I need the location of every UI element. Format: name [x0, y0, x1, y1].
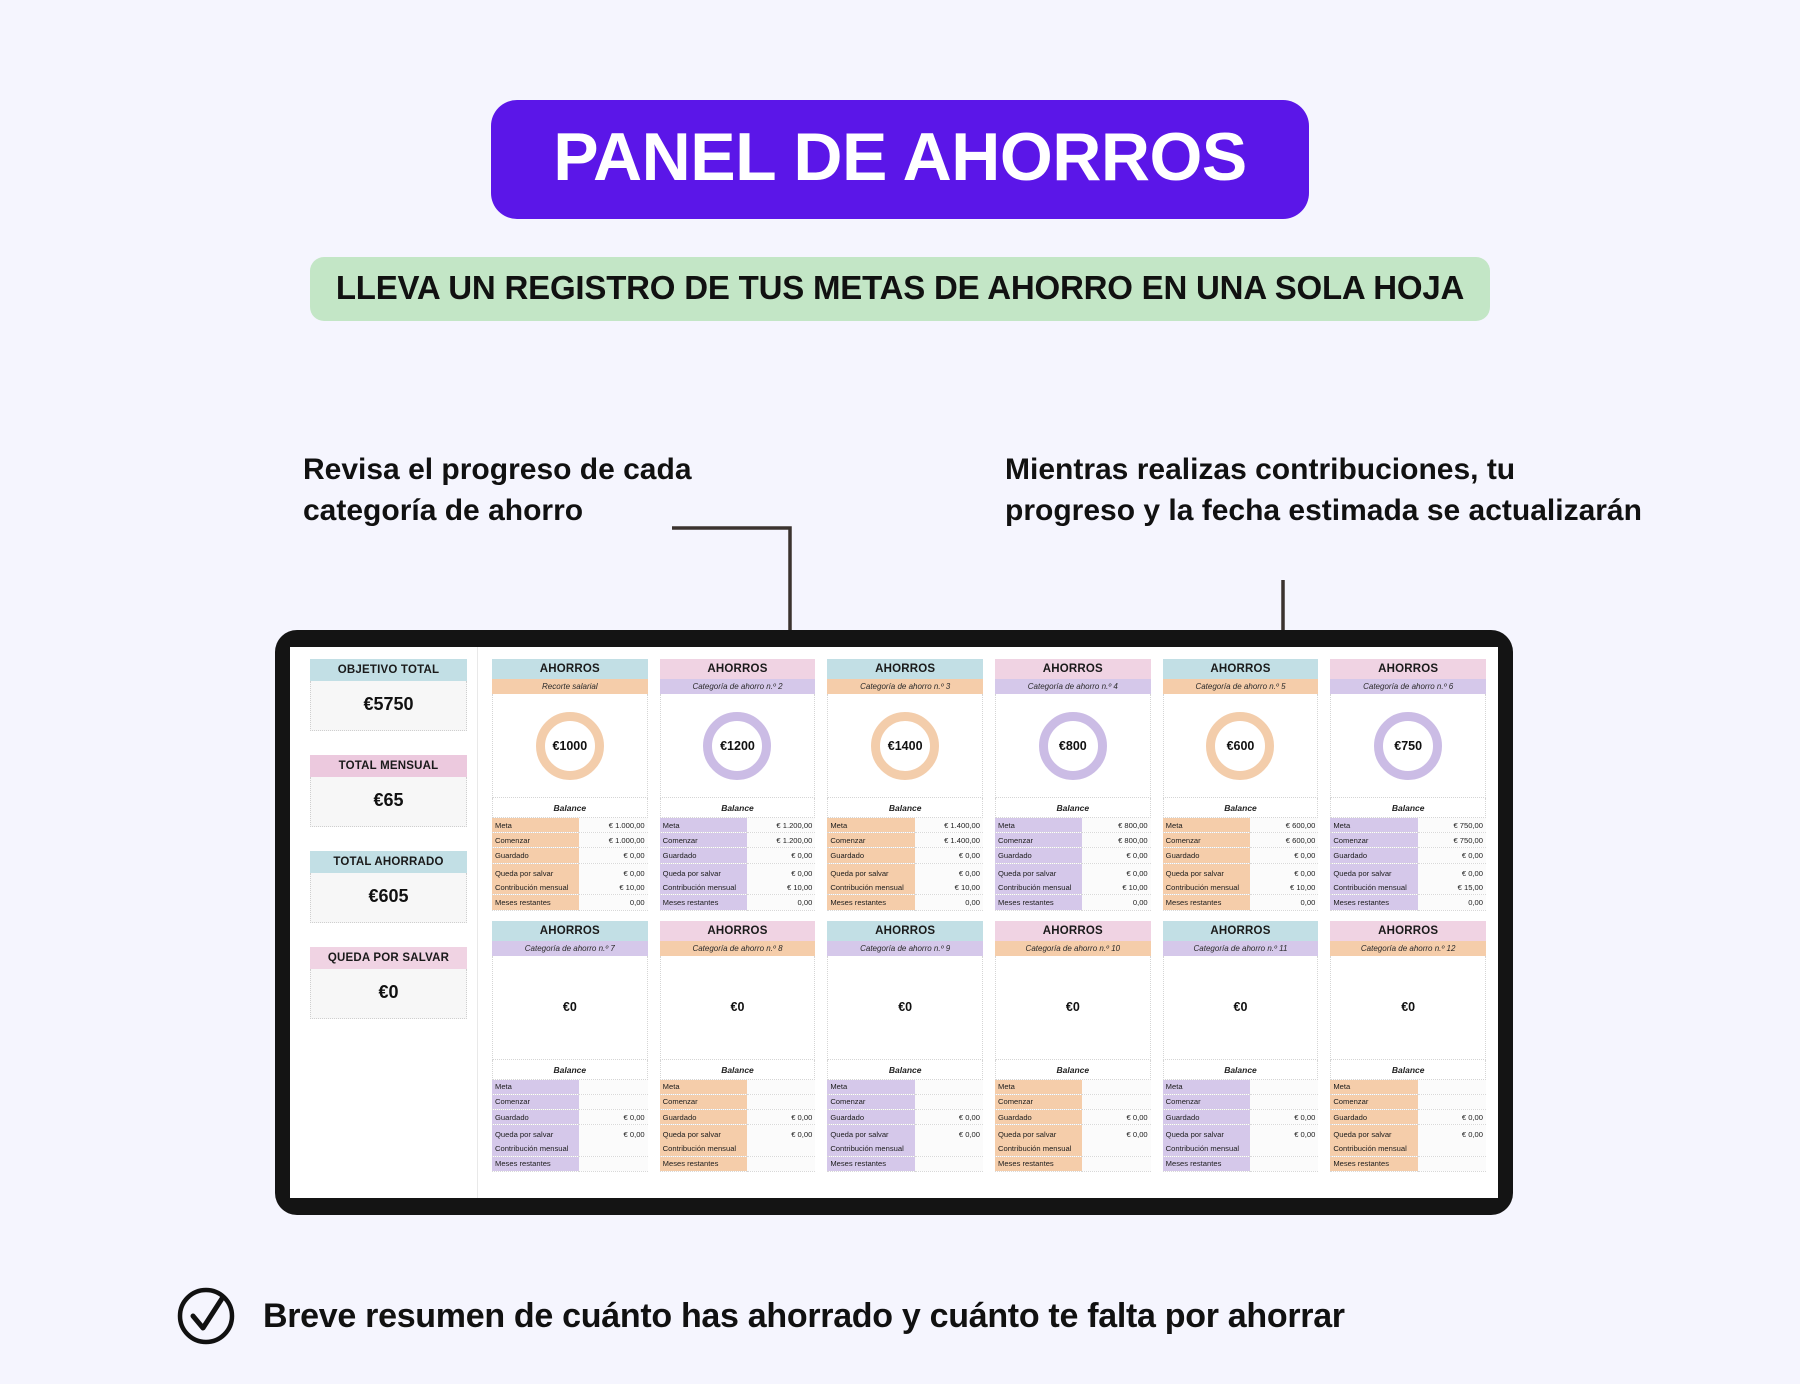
balance-row-value: € 0,00: [1250, 1109, 1319, 1124]
balance-row-value: € 10,00: [915, 880, 984, 895]
table-row[interactable]: Guardado€ 0,00: [827, 1109, 983, 1124]
check-circle-icon: [175, 1285, 237, 1347]
savings-card-subtitle: Categoría de ahorro n.º 6: [1330, 679, 1486, 694]
summary-card[interactable]: OBJETIVO TOTAL€5750: [310, 659, 467, 731]
table-row[interactable]: Guardado€ 0,00: [1163, 848, 1319, 863]
balance-row-value: € 10,00: [1082, 880, 1151, 895]
summary-card-label: TOTAL MENSUAL: [310, 755, 467, 777]
balance-row-value: € 10,00: [579, 880, 648, 895]
balance-row-key: Meta: [995, 818, 1082, 833]
table-row[interactable]: Meta€ 1.000,00: [492, 818, 648, 833]
balance-row-value: € 0,00: [1418, 848, 1487, 863]
table-row[interactable]: Meses restantes0,00: [1330, 895, 1486, 910]
savings-card[interactable]: AHORROSCategoría de ahorro n.º 11€0Balan…: [1163, 921, 1319, 1173]
table-row[interactable]: Queda por salvar€ 0,00: [1330, 863, 1486, 880]
balance-row-key: Meta: [660, 1080, 747, 1095]
balance-row-value: € 0,00: [747, 1125, 816, 1142]
balance-row-value: € 600,00: [1250, 833, 1319, 848]
table-row[interactable]: Queda por salvar€ 0,00: [1163, 1125, 1319, 1142]
balance-row-key: Meta: [1330, 818, 1417, 833]
balance-table: Meta€ 1.200,00Comenzar€ 1.200,00Guardado…: [660, 818, 816, 911]
balance-row-value: € 10,00: [747, 880, 816, 895]
savings-progress-donut: €0: [660, 956, 816, 1060]
balance-row-key: Meta: [660, 818, 747, 833]
balance-row-value: € 1.000,00: [579, 833, 648, 848]
savings-card-title: AHORROS: [1163, 659, 1319, 679]
savings-card-title: AHORROS: [1330, 921, 1486, 941]
balance-label: Balance: [1163, 1060, 1319, 1080]
balance-row-key: Contribución mensual: [660, 1142, 747, 1157]
donut-amount: €0: [1401, 1000, 1415, 1014]
balance-row-key: Queda por salvar: [660, 863, 747, 880]
balance-label: Balance: [1330, 1060, 1486, 1080]
balance-row-value: [1418, 1080, 1487, 1095]
balance-row-key: Comenzar: [995, 1094, 1082, 1109]
table-row[interactable]: Meses restantes: [492, 1156, 648, 1171]
balance-row-key: Contribución mensual: [827, 880, 914, 895]
balance-row-value: [915, 1080, 984, 1095]
balance-row-key: Contribución mensual: [660, 880, 747, 895]
balance-row-value: [579, 1156, 648, 1171]
balance-label: Balance: [1163, 798, 1319, 818]
balance-row-value: [1418, 1094, 1487, 1109]
table-row[interactable]: Meses restantes: [995, 1156, 1151, 1171]
balance-row-value: 0,00: [579, 895, 648, 910]
table-row[interactable]: Comenzar€ 1.000,00: [492, 833, 648, 848]
balance-table: MetaComenzarGuardado€ 0,00Queda por salv…: [1163, 1080, 1319, 1173]
balance-row-value: [579, 1080, 648, 1095]
balance-row-key: Comenzar: [1163, 833, 1250, 848]
balance-row-value: [1082, 1142, 1151, 1157]
table-row[interactable]: Contribución mensual€ 10,00: [995, 880, 1151, 895]
table-row[interactable]: Queda por salvar€ 0,00: [660, 1125, 816, 1142]
balance-row-key: Guardado: [660, 848, 747, 863]
table-row[interactable]: Meta€ 750,00: [1330, 818, 1486, 833]
balance-table: Meta€ 750,00Comenzar€ 750,00Guardado€ 0,…: [1330, 818, 1486, 911]
savings-progress-donut: €750: [1330, 694, 1486, 798]
balance-row-key: Queda por salvar: [660, 1125, 747, 1142]
balance-row-key: Guardado: [492, 1109, 579, 1124]
table-row[interactable]: Guardado€ 0,00: [1330, 1109, 1486, 1124]
balance-row-key: Queda por salvar: [827, 1125, 914, 1142]
savings-card-subtitle: Categoría de ahorro n.º 3: [827, 679, 983, 694]
table-row[interactable]: Contribución mensual€ 10,00: [827, 880, 983, 895]
balance-row-value: [915, 1142, 984, 1157]
balance-row-key: Queda por salvar: [492, 1125, 579, 1142]
table-row[interactable]: Guardado€ 0,00: [660, 1109, 816, 1124]
balance-row-value: € 0,00: [747, 863, 816, 880]
balance-row-key: Meses restantes: [1163, 1156, 1250, 1171]
savings-card-title: AHORROS: [1330, 659, 1486, 679]
balance-table: Meta€ 600,00Comenzar€ 600,00Guardado€ 0,…: [1163, 818, 1319, 911]
page-header: PANEL DE AHORROS LLEVA UN REGISTRO DE TU…: [0, 0, 1800, 321]
balance-row-key: Meta: [827, 818, 914, 833]
callout-left-text: Revisa el progreso de cada categoría de …: [303, 450, 773, 531]
balance-row-value: € 0,00: [915, 863, 984, 880]
savings-card-subtitle: Categoría de ahorro n.º 12: [1330, 941, 1486, 956]
table-row[interactable]: Meta: [1330, 1080, 1486, 1095]
table-row[interactable]: Meses restantes0,00: [660, 895, 816, 910]
balance-row-value: € 1.200,00: [747, 833, 816, 848]
balance-row-key: Guardado: [827, 1109, 914, 1124]
table-row[interactable]: Contribución mensual: [660, 1142, 816, 1157]
callout-right-text: Mientras realizas contribuciones, tu pro…: [1005, 450, 1645, 531]
balance-table: MetaComenzarGuardado€ 0,00Queda por salv…: [660, 1080, 816, 1173]
table-row[interactable]: Guardado€ 0,00: [1163, 1109, 1319, 1124]
balance-row-value: 0,00: [1082, 895, 1151, 910]
balance-row-key: Queda por salvar: [827, 863, 914, 880]
table-row[interactable]: Comenzar: [1163, 1094, 1319, 1109]
balance-row-value: [1250, 1080, 1319, 1095]
balance-row-key: Comenzar: [827, 1094, 914, 1109]
table-row[interactable]: Comenzar€ 1.200,00: [660, 833, 816, 848]
footer-text: Breve resumen de cuánto has ahorrado y c…: [263, 1297, 1345, 1336]
balance-row-value: € 0,00: [579, 863, 648, 880]
donut-amount: €800: [1039, 712, 1107, 780]
balance-row-key: Guardado: [995, 848, 1082, 863]
savings-card[interactable]: AHORROSRecorte salarial€1000BalanceMeta€…: [492, 659, 648, 911]
balance-row-key: Meses restantes: [995, 1156, 1082, 1171]
balance-row-key: Meses restantes: [492, 895, 579, 910]
balance-label: Balance: [660, 798, 816, 818]
balance-row-key: Contribución mensual: [995, 880, 1082, 895]
balance-row-key: Guardado: [660, 1109, 747, 1124]
balance-row-key: Meses restantes: [1163, 895, 1250, 910]
table-row[interactable]: Guardado€ 0,00: [492, 1109, 648, 1124]
summary-card-label: TOTAL AHORRADO: [310, 851, 467, 873]
balance-row-value: € 800,00: [1082, 833, 1151, 848]
table-row[interactable]: Meses restantes: [1330, 1156, 1486, 1171]
table-row[interactable]: Queda por salvar€ 0,00: [1330, 1125, 1486, 1142]
balance-row-value: € 1.000,00: [579, 818, 648, 833]
balance-label: Balance: [827, 798, 983, 818]
savings-card[interactable]: AHORROSCategoría de ahorro n.º 7€0Balanc…: [492, 921, 648, 1173]
balance-row-value: [747, 1156, 816, 1171]
spreadsheet-screen[interactable]: OBJETIVO TOTAL€5750TOTAL MENSUAL€65TOTAL…: [290, 647, 1498, 1198]
balance-row-value: € 0,00: [1250, 863, 1319, 880]
table-row[interactable]: Meta€ 800,00: [995, 818, 1151, 833]
balance-row-key: Contribución mensual: [492, 880, 579, 895]
table-row[interactable]: Contribución mensual€ 10,00: [660, 880, 816, 895]
balance-row-key: Guardado: [995, 1109, 1082, 1124]
balance-row-key: Queda por salvar: [1163, 1125, 1250, 1142]
savings-card-title: AHORROS: [827, 659, 983, 679]
table-row[interactable]: Queda por salvar€ 0,00: [492, 863, 648, 880]
balance-row-key: Contribución mensual: [1330, 880, 1417, 895]
balance-row-value: [1082, 1094, 1151, 1109]
balance-row-key: Comenzar: [492, 833, 579, 848]
savings-card-title: AHORROS: [827, 921, 983, 941]
balance-row-value: € 0,00: [1418, 863, 1487, 880]
balance-row-value: € 15,00: [1418, 880, 1487, 895]
savings-progress-donut: €1200: [660, 694, 816, 798]
table-row[interactable]: Guardado€ 0,00: [995, 848, 1151, 863]
savings-progress-donut: €0: [1163, 956, 1319, 1060]
savings-card[interactable]: AHORROSCategoría de ahorro n.º 8€0Balanc…: [660, 921, 816, 1173]
balance-table: Meta€ 1.400,00Comenzar€ 1.400,00Guardado…: [827, 818, 983, 911]
table-row[interactable]: Contribución mensual: [1330, 1142, 1486, 1157]
balance-row-key: Contribución mensual: [1330, 1142, 1417, 1157]
savings-card-subtitle: Categoría de ahorro n.º 9: [827, 941, 983, 956]
balance-row-key: Comenzar: [492, 1094, 579, 1109]
balance-row-value: € 750,00: [1418, 818, 1487, 833]
table-row[interactable]: Meta: [827, 1080, 983, 1095]
balance-table: MetaComenzarGuardado€ 0,00Queda por salv…: [1330, 1080, 1486, 1173]
table-row[interactable]: Queda por salvar€ 0,00: [492, 1125, 648, 1142]
table-row[interactable]: Meses restantes0,00: [1163, 895, 1319, 910]
balance-row-key: Guardado: [1330, 1109, 1417, 1124]
balance-table: Meta€ 1.000,00Comenzar€ 1.000,00Guardado…: [492, 818, 648, 911]
balance-row-value: € 1.200,00: [747, 818, 816, 833]
balance-row-value: [1250, 1094, 1319, 1109]
balance-row-value: [1418, 1142, 1487, 1157]
table-row[interactable]: Meta€ 1.200,00: [660, 818, 816, 833]
savings-card-title: AHORROS: [492, 921, 648, 941]
balance-table: MetaComenzarGuardado€ 0,00Queda por salv…: [827, 1080, 983, 1173]
table-row[interactable]: Meta€ 1.400,00: [827, 818, 983, 833]
balance-row-key: Queda por salvar: [1330, 863, 1417, 880]
page-subtitle: LLEVA UN REGISTRO DE TUS METAS DE AHORRO…: [310, 257, 1490, 321]
table-row[interactable]: Contribución mensual: [827, 1142, 983, 1157]
table-row[interactable]: Guardado€ 0,00: [660, 848, 816, 863]
table-row[interactable]: Comenzar€ 600,00: [1163, 833, 1319, 848]
balance-row-value: [747, 1094, 816, 1109]
table-row[interactable]: Queda por salvar€ 0,00: [1163, 863, 1319, 880]
balance-row-key: Contribución mensual: [1163, 1142, 1250, 1157]
savings-card-title: AHORROS: [660, 659, 816, 679]
table-row[interactable]: Contribución mensual: [1163, 1142, 1319, 1157]
table-row[interactable]: Meta: [660, 1080, 816, 1095]
balance-row-value: € 0,00: [915, 1125, 984, 1142]
page-title: PANEL DE AHORROS: [491, 100, 1308, 219]
balance-row-value: [1250, 1142, 1319, 1157]
table-row[interactable]: Meses restantes: [1163, 1156, 1319, 1171]
balance-row-key: Queda por salvar: [995, 1125, 1082, 1142]
balance-row-key: Queda por salvar: [1163, 863, 1250, 880]
balance-row-value: 0,00: [915, 895, 984, 910]
savings-card-title: AHORROS: [1163, 921, 1319, 941]
balance-row-key: Meta: [492, 1080, 579, 1095]
balance-row-key: Comenzar: [660, 1094, 747, 1109]
table-row[interactable]: Guardado€ 0,00: [492, 848, 648, 863]
balance-row-value: [579, 1094, 648, 1109]
balance-row-value: € 0,00: [579, 1109, 648, 1124]
device-frame: OBJETIVO TOTAL€5750TOTAL MENSUAL€65TOTAL…: [275, 630, 1513, 1215]
savings-card[interactable]: AHORROSCategoría de ahorro n.º 2€1200Bal…: [660, 659, 816, 911]
savings-card[interactable]: AHORROSCategoría de ahorro n.º 5€600Bala…: [1163, 659, 1319, 911]
footer-note: Breve resumen de cuánto has ahorrado y c…: [175, 1285, 1345, 1347]
balance-row-key: Comenzar: [1330, 1094, 1417, 1109]
balance-row-key: Contribución mensual: [827, 1142, 914, 1157]
balance-row-value: 0,00: [1418, 895, 1487, 910]
balance-row-key: Meses restantes: [660, 895, 747, 910]
balance-row-key: Comenzar: [1163, 1094, 1250, 1109]
balance-label: Balance: [660, 1060, 816, 1080]
table-row[interactable]: Contribución mensual€ 15,00: [1330, 880, 1486, 895]
balance-row-value: € 0,00: [1250, 848, 1319, 863]
balance-row-key: Contribución mensual: [995, 1142, 1082, 1157]
balance-row-key: Meta: [827, 1080, 914, 1095]
table-row[interactable]: Comenzar€ 750,00: [1330, 833, 1486, 848]
donut-amount: €600: [1206, 712, 1274, 780]
savings-card-subtitle: Categoría de ahorro n.º 5: [1163, 679, 1319, 694]
table-row[interactable]: Queda por salvar€ 0,00: [827, 1125, 983, 1142]
balance-row-value: € 0,00: [1082, 1125, 1151, 1142]
table-row[interactable]: Guardado€ 0,00: [827, 848, 983, 863]
table-row[interactable]: Queda por salvar€ 0,00: [660, 863, 816, 880]
savings-card[interactable]: AHORROSCategoría de ahorro n.º 12€0Balan…: [1330, 921, 1486, 1173]
summary-card-value: €65: [310, 777, 467, 827]
balance-label: Balance: [492, 1060, 648, 1080]
donut-amount: €0: [563, 1000, 577, 1014]
table-row[interactable]: Meses restantes0,00: [492, 895, 648, 910]
balance-row-value: 0,00: [747, 895, 816, 910]
balance-row-value: 0,00: [1250, 895, 1319, 910]
balance-row-value: [1250, 1156, 1319, 1171]
donut-amount: €1200: [703, 712, 771, 780]
balance-row-value: [1418, 1156, 1487, 1171]
balance-row-key: Guardado: [1163, 1109, 1250, 1124]
table-row[interactable]: Contribución mensual€ 10,00: [492, 880, 648, 895]
savings-card-subtitle: Categoría de ahorro n.º 10: [995, 941, 1151, 956]
savings-progress-donut: €0: [1330, 956, 1486, 1060]
table-row[interactable]: Comenzar: [660, 1094, 816, 1109]
balance-row-key: Meta: [1330, 1080, 1417, 1095]
balance-row-key: Meses restantes: [827, 1156, 914, 1171]
savings-card[interactable]: AHORROSCategoría de ahorro n.º 3€1400Bal…: [827, 659, 983, 911]
balance-row-key: Contribución mensual: [1163, 880, 1250, 895]
balance-row-value: € 800,00: [1082, 818, 1151, 833]
savings-progress-donut: €600: [1163, 694, 1319, 798]
balance-row-value: [915, 1156, 984, 1171]
savings-card[interactable]: AHORROSCategoría de ahorro n.º 6€750Bala…: [1330, 659, 1486, 911]
balance-row-key: Comenzar: [995, 833, 1082, 848]
table-row[interactable]: Comenzar€ 1.400,00: [827, 833, 983, 848]
savings-card-subtitle: Categoría de ahorro n.º 7: [492, 941, 648, 956]
donut-amount: €0: [731, 1000, 745, 1014]
balance-row-value: € 0,00: [915, 848, 984, 863]
balance-row-value: € 600,00: [1250, 818, 1319, 833]
donut-amount: €750: [1374, 712, 1442, 780]
balance-row-key: Meta: [1163, 1080, 1250, 1095]
balance-row-value: € 0,00: [579, 1125, 648, 1142]
donut-amount: €0: [1234, 1000, 1248, 1014]
table-row[interactable]: Comenzar: [995, 1094, 1151, 1109]
balance-row-key: Guardado: [827, 848, 914, 863]
balance-row-key: Comenzar: [1330, 833, 1417, 848]
savings-card-title: AHORROS: [492, 659, 648, 679]
table-row[interactable]: Comenzar: [827, 1094, 983, 1109]
table-row[interactable]: Meses restantes0,00: [827, 895, 983, 910]
donut-amount: €0: [898, 1000, 912, 1014]
savings-progress-donut: €0: [492, 956, 648, 1060]
balance-row-key: Meta: [1163, 818, 1250, 833]
table-row[interactable]: Contribución mensual€ 10,00: [1163, 880, 1319, 895]
savings-progress-donut: €800: [995, 694, 1151, 798]
savings-card-subtitle: Categoría de ahorro n.º 8: [660, 941, 816, 956]
table-row[interactable]: Meses restantes: [660, 1156, 816, 1171]
summary-column: OBJETIVO TOTAL€5750TOTAL MENSUAL€65TOTAL…: [290, 647, 478, 1198]
balance-row-value: € 0,00: [747, 848, 816, 863]
balance-row-key: Meses restantes: [995, 895, 1082, 910]
balance-row-key: Guardado: [1330, 848, 1417, 863]
table-row[interactable]: Meta: [1163, 1080, 1319, 1095]
balance-row-value: [1082, 1156, 1151, 1171]
balance-label: Balance: [1330, 798, 1486, 818]
table-row[interactable]: Meses restantes: [827, 1156, 983, 1171]
balance-row-value: € 0,00: [1418, 1125, 1487, 1142]
balance-row-key: Meses restantes: [660, 1156, 747, 1171]
balance-row-key: Meses restantes: [827, 895, 914, 910]
summary-card-label: QUEDA POR SALVAR: [310, 947, 467, 969]
table-row[interactable]: Meses restantes0,00: [995, 895, 1151, 910]
table-row[interactable]: Comenzar€ 800,00: [995, 833, 1151, 848]
balance-row-value: [747, 1080, 816, 1095]
table-row[interactable]: Comenzar: [1330, 1094, 1486, 1109]
balance-row-key: Contribución mensual: [492, 1142, 579, 1157]
summary-card[interactable]: TOTAL MENSUAL€65: [310, 755, 467, 827]
table-row[interactable]: Comenzar: [492, 1094, 648, 1109]
table-row[interactable]: Meta: [995, 1080, 1151, 1095]
table-row[interactable]: Contribución mensual: [995, 1142, 1151, 1157]
balance-label: Balance: [827, 1060, 983, 1080]
summary-card[interactable]: QUEDA POR SALVAR€0: [310, 947, 467, 1019]
balance-row-value: € 10,00: [1250, 880, 1319, 895]
table-row[interactable]: Guardado€ 0,00: [1330, 848, 1486, 863]
balance-row-value: € 0,00: [1082, 848, 1151, 863]
balance-row-value: € 0,00: [579, 848, 648, 863]
balance-row-key: Meses restantes: [492, 1156, 579, 1171]
balance-label: Balance: [995, 798, 1151, 818]
savings-card-title: AHORROS: [995, 921, 1151, 941]
balance-row-value: € 0,00: [1418, 1109, 1487, 1124]
table-row[interactable]: Guardado€ 0,00: [995, 1109, 1151, 1124]
summary-card-value: €605: [310, 873, 467, 923]
donut-amount: €0: [1066, 1000, 1080, 1014]
savings-card-subtitle: Categoría de ahorro n.º 11: [1163, 941, 1319, 956]
savings-card-subtitle: Categoría de ahorro n.º 4: [995, 679, 1151, 694]
table-row[interactable]: Meta€ 600,00: [1163, 818, 1319, 833]
table-row[interactable]: Meta: [492, 1080, 648, 1095]
balance-row-key: Queda por salvar: [492, 863, 579, 880]
balance-row-value: € 0,00: [915, 1109, 984, 1124]
balance-row-value: € 0,00: [1082, 863, 1151, 880]
savings-card[interactable]: AHORROSCategoría de ahorro n.º 9€0Balanc…: [827, 921, 983, 1173]
table-row[interactable]: Queda por salvar€ 0,00: [827, 863, 983, 880]
balance-row-value: [915, 1094, 984, 1109]
savings-card[interactable]: AHORROSCategoría de ahorro n.º 10€0Balan…: [995, 921, 1151, 1173]
table-row[interactable]: Queda por salvar€ 0,00: [995, 863, 1151, 880]
savings-card[interactable]: AHORROSCategoría de ahorro n.º 4€800Bala…: [995, 659, 1151, 911]
table-row[interactable]: Queda por salvar€ 0,00: [995, 1125, 1151, 1142]
balance-row-value: € 750,00: [1418, 833, 1487, 848]
balance-label: Balance: [492, 798, 648, 818]
balance-table: MetaComenzarGuardado€ 0,00Queda por salv…: [995, 1080, 1151, 1173]
table-row[interactable]: Contribución mensual: [492, 1142, 648, 1157]
savings-progress-donut: €1400: [827, 694, 983, 798]
balance-row-value: € 1.400,00: [915, 833, 984, 848]
summary-card[interactable]: TOTAL AHORRADO€605: [310, 851, 467, 923]
summary-card-value: €5750: [310, 681, 467, 731]
balance-row-value: [1082, 1080, 1151, 1095]
balance-row-value: € 1.400,00: [915, 818, 984, 833]
summary-card-value: €0: [310, 969, 467, 1019]
balance-row-key: Meses restantes: [1330, 895, 1417, 910]
balance-row-value: € 0,00: [1250, 1125, 1319, 1142]
balance-row-key: Comenzar: [827, 833, 914, 848]
balance-row-key: Meta: [492, 818, 579, 833]
balance-row-key: Comenzar: [660, 833, 747, 848]
